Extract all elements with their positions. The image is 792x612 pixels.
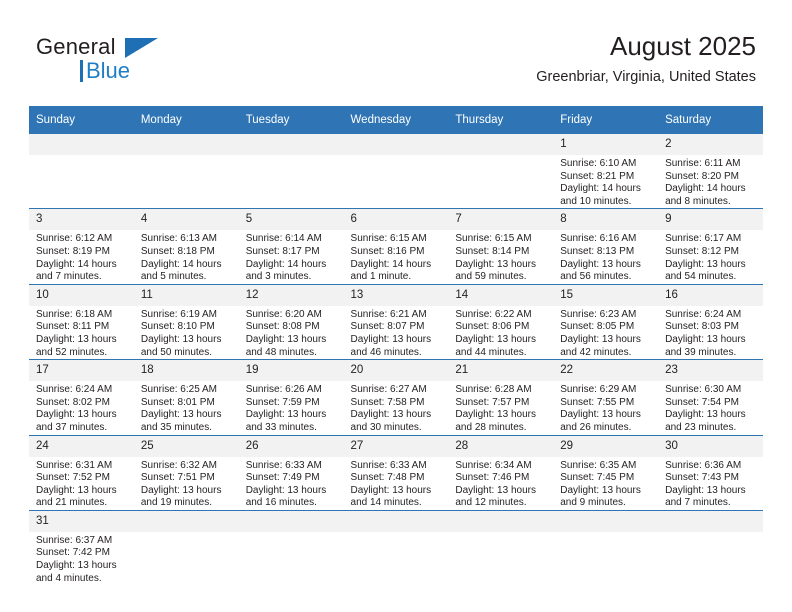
calendar-cell-day-20[interactable]: 20Sunrise: 6:27 AMSunset: 7:58 PMDayligh… [344, 360, 449, 435]
calendar-cell-day-8[interactable]: 8Sunrise: 6:16 AMSunset: 8:13 PMDaylight… [553, 209, 658, 284]
day-details: Sunrise: 6:37 AMSunset: 7:42 PMDaylight:… [29, 532, 134, 585]
daylight-duration-line2: and 33 minutes. [246, 422, 338, 435]
sunrise-time: Sunrise: 6:15 AM [351, 233, 443, 246]
sunrise-time: Sunrise: 6:28 AM [455, 384, 547, 397]
day-number: 26 [239, 436, 344, 457]
day-number: 23 [658, 360, 763, 381]
day-details: Sunrise: 6:28 AMSunset: 7:57 PMDaylight:… [448, 381, 553, 434]
sunrise-time: Sunrise: 6:14 AM [246, 233, 338, 246]
sunrise-time: Sunrise: 6:18 AM [36, 309, 128, 322]
daylight-duration-line1: Daylight: 13 hours [455, 485, 547, 498]
daylight-duration-line1: Daylight: 13 hours [560, 409, 652, 422]
sunset-time: Sunset: 8:13 PM [560, 246, 652, 259]
page-title: August 2025 [536, 30, 756, 62]
daylight-duration-line2: and 7 minutes. [36, 271, 128, 284]
day-number: 27 [344, 436, 449, 457]
daylight-duration-line2: and 1 minute. [351, 271, 443, 284]
sunrise-time: Sunrise: 6:30 AM [665, 384, 757, 397]
daylight-duration-line2: and 56 minutes. [560, 271, 652, 284]
day-number: 9 [658, 209, 763, 230]
daylight-duration-line1: Daylight: 13 hours [36, 560, 128, 573]
calendar-grid: Sunday Monday Tuesday Wednesday Thursday… [29, 106, 763, 585]
day-number: 13 [344, 285, 449, 306]
sunset-time: Sunset: 8:16 PM [351, 246, 443, 259]
day-number: 24 [29, 436, 134, 457]
day-details: Sunrise: 6:13 AMSunset: 8:18 PMDaylight:… [134, 230, 239, 283]
daylight-duration-line2: and 16 minutes. [246, 497, 338, 510]
calendar-week-row: 1Sunrise: 6:10 AMSunset: 8:21 PMDaylight… [29, 134, 763, 209]
calendar-cell-empty [344, 134, 449, 209]
day-number: 31 [29, 511, 134, 532]
day-number: 29 [553, 436, 658, 457]
day-number: 14 [448, 285, 553, 306]
day-details: Sunrise: 6:33 AMSunset: 7:49 PMDaylight:… [239, 457, 344, 510]
page-header: General Blue August 2025 Greenbriar, Vir… [0, 0, 792, 104]
day-number: 2 [658, 134, 763, 155]
daylight-duration-line2: and 30 minutes. [351, 422, 443, 435]
daylight-duration-line1: Daylight: 13 hours [36, 485, 128, 498]
daylight-duration-line2: and 9 minutes. [560, 497, 652, 510]
daylight-duration-line1: Daylight: 13 hours [351, 334, 443, 347]
daylight-duration-line2: and 5 minutes. [141, 271, 233, 284]
calendar-week-row: 24Sunrise: 6:31 AMSunset: 7:52 PMDayligh… [29, 435, 763, 510]
daylight-duration-line2: and 14 minutes. [351, 497, 443, 510]
day-number: 21 [448, 360, 553, 381]
calendar-cell-empty [448, 134, 553, 209]
day-number: 19 [239, 360, 344, 381]
day-number [239, 511, 344, 532]
sunset-time: Sunset: 8:07 PM [351, 321, 443, 334]
sunrise-time: Sunrise: 6:23 AM [560, 309, 652, 322]
calendar-cell-day-10[interactable]: 10Sunrise: 6:18 AMSunset: 8:11 PMDayligh… [29, 284, 134, 359]
day-details: Sunrise: 6:15 AMSunset: 8:14 PMDaylight:… [448, 230, 553, 283]
calendar-cell-empty [344, 510, 449, 585]
sunset-time: Sunset: 7:42 PM [36, 547, 128, 560]
calendar-cell-day-6[interactable]: 6Sunrise: 6:15 AMSunset: 8:16 PMDaylight… [344, 209, 449, 284]
brand-name-blue: Blue [86, 58, 130, 83]
sunset-time: Sunset: 8:05 PM [560, 321, 652, 334]
sunset-time: Sunset: 7:43 PM [665, 472, 757, 485]
sunset-time: Sunset: 8:12 PM [665, 246, 757, 259]
sunset-time: Sunset: 8:17 PM [246, 246, 338, 259]
brand-logo-line2: Blue [36, 58, 276, 84]
daylight-duration-line1: Daylight: 13 hours [665, 409, 757, 422]
day-details: Sunrise: 6:15 AMSunset: 8:16 PMDaylight:… [344, 230, 449, 283]
sunrise-time: Sunrise: 6:16 AM [560, 233, 652, 246]
calendar-cell-day-29[interactable]: 29Sunrise: 6:35 AMSunset: 7:45 PMDayligh… [553, 435, 658, 510]
daylight-duration-line1: Daylight: 14 hours [141, 259, 233, 272]
weekday-header-friday: Friday [553, 106, 658, 134]
daylight-duration-line1: Daylight: 13 hours [665, 334, 757, 347]
daylight-duration-line2: and 7 minutes. [665, 497, 757, 510]
day-number [448, 134, 553, 155]
sunrise-time: Sunrise: 6:33 AM [351, 460, 443, 473]
sunrise-time: Sunrise: 6:26 AM [246, 384, 338, 397]
brand-bar-icon [80, 60, 83, 82]
day-number: 10 [29, 285, 134, 306]
day-number: 18 [134, 360, 239, 381]
day-details: Sunrise: 6:22 AMSunset: 8:06 PMDaylight:… [448, 306, 553, 359]
sunrise-time: Sunrise: 6:31 AM [36, 460, 128, 473]
sunset-time: Sunset: 7:52 PM [36, 472, 128, 485]
daylight-duration-line2: and 3 minutes. [246, 271, 338, 284]
sunset-time: Sunset: 7:55 PM [560, 397, 652, 410]
brand-logo[interactable]: General Blue [36, 34, 276, 90]
daylight-duration-line2: and 19 minutes. [141, 497, 233, 510]
calendar-cell-day-16[interactable]: 16Sunrise: 6:24 AMSunset: 8:03 PMDayligh… [658, 284, 763, 359]
daylight-duration-line1: Daylight: 13 hours [560, 259, 652, 272]
sunset-time: Sunset: 8:20 PM [665, 171, 757, 184]
day-details: Sunrise: 6:26 AMSunset: 7:59 PMDaylight:… [239, 381, 344, 434]
calendar-cell-day-25[interactable]: 25Sunrise: 6:32 AMSunset: 7:51 PMDayligh… [134, 435, 239, 510]
weekday-header-monday: Monday [134, 106, 239, 134]
sunset-time: Sunset: 8:18 PM [141, 246, 233, 259]
calendar-cell-day-26[interactable]: 26Sunrise: 6:33 AMSunset: 7:49 PMDayligh… [239, 435, 344, 510]
day-details: Sunrise: 6:31 AMSunset: 7:52 PMDaylight:… [29, 457, 134, 510]
day-details: Sunrise: 6:11 AMSunset: 8:20 PMDaylight:… [658, 155, 763, 208]
calendar-week-row: 31Sunrise: 6:37 AMSunset: 7:42 PMDayligh… [29, 510, 763, 585]
calendar-body: 1Sunrise: 6:10 AMSunset: 8:21 PMDaylight… [29, 134, 763, 585]
daylight-duration-line1: Daylight: 13 hours [141, 409, 233, 422]
daylight-duration-line1: Daylight: 13 hours [665, 485, 757, 498]
sunset-time: Sunset: 8:21 PM [560, 171, 652, 184]
calendar-week-row: 3Sunrise: 6:12 AMSunset: 8:19 PMDaylight… [29, 209, 763, 284]
weekday-header-sunday: Sunday [29, 106, 134, 134]
calendar-cell-day-9[interactable]: 9Sunrise: 6:17 AMSunset: 8:12 PMDaylight… [658, 209, 763, 284]
sunset-time: Sunset: 7:46 PM [455, 472, 547, 485]
day-details: Sunrise: 6:10 AMSunset: 8:21 PMDaylight:… [553, 155, 658, 208]
daylight-duration-line2: and 8 minutes. [665, 196, 757, 209]
daylight-duration-line2: and 46 minutes. [351, 347, 443, 360]
sunset-time: Sunset: 7:51 PM [141, 472, 233, 485]
sunset-time: Sunset: 8:06 PM [455, 321, 547, 334]
sunset-time: Sunset: 7:48 PM [351, 472, 443, 485]
daylight-duration-line2: and 21 minutes. [36, 497, 128, 510]
daylight-duration-line1: Daylight: 13 hours [246, 334, 338, 347]
calendar-week-row: 17Sunrise: 6:24 AMSunset: 8:02 PMDayligh… [29, 360, 763, 435]
day-details: Sunrise: 6:23 AMSunset: 8:05 PMDaylight:… [553, 306, 658, 359]
calendar-cell-day-3[interactable]: 3Sunrise: 6:12 AMSunset: 8:19 PMDaylight… [29, 209, 134, 284]
daylight-duration-line1: Daylight: 13 hours [36, 409, 128, 422]
daylight-duration-line2: and 37 minutes. [36, 422, 128, 435]
day-number [239, 134, 344, 155]
title-block: August 2025 Greenbriar, Virginia, United… [536, 30, 756, 86]
calendar-cell-day-4[interactable]: 4Sunrise: 6:13 AMSunset: 8:18 PMDaylight… [134, 209, 239, 284]
day-details: Sunrise: 6:21 AMSunset: 8:07 PMDaylight:… [344, 306, 449, 359]
sunset-time: Sunset: 7:58 PM [351, 397, 443, 410]
calendar-cell-day-24[interactable]: 24Sunrise: 6:31 AMSunset: 7:52 PMDayligh… [29, 435, 134, 510]
calendar-cell-day-23[interactable]: 23Sunrise: 6:30 AMSunset: 7:54 PMDayligh… [658, 360, 763, 435]
sunrise-time: Sunrise: 6:24 AM [36, 384, 128, 397]
calendar-cell-day-17[interactable]: 17Sunrise: 6:24 AMSunset: 8:02 PMDayligh… [29, 360, 134, 435]
daylight-duration-line1: Daylight: 14 hours [351, 259, 443, 272]
daylight-duration-line2: and 10 minutes. [560, 196, 652, 209]
daylight-duration-line1: Daylight: 13 hours [141, 485, 233, 498]
day-details: Sunrise: 6:20 AMSunset: 8:08 PMDaylight:… [239, 306, 344, 359]
daylight-duration-line1: Daylight: 14 hours [246, 259, 338, 272]
sunset-time: Sunset: 8:10 PM [141, 321, 233, 334]
day-number: 20 [344, 360, 449, 381]
daylight-duration-line2: and 54 minutes. [665, 271, 757, 284]
daylight-duration-line1: Daylight: 14 hours [560, 183, 652, 196]
day-number [134, 511, 239, 532]
sunset-time: Sunset: 8:08 PM [246, 321, 338, 334]
calendar-cell-day-15[interactable]: 15Sunrise: 6:23 AMSunset: 8:05 PMDayligh… [553, 284, 658, 359]
daylight-duration-line2: and 48 minutes. [246, 347, 338, 360]
calendar-cell-day-7[interactable]: 7Sunrise: 6:15 AMSunset: 8:14 PMDaylight… [448, 209, 553, 284]
day-details: Sunrise: 6:32 AMSunset: 7:51 PMDaylight:… [134, 457, 239, 510]
calendar-cell-day-31[interactable]: 31Sunrise: 6:37 AMSunset: 7:42 PMDayligh… [29, 510, 134, 585]
day-number [29, 134, 134, 155]
daylight-duration-line1: Daylight: 13 hours [665, 259, 757, 272]
calendar-cell-day-19[interactable]: 19Sunrise: 6:26 AMSunset: 7:59 PMDayligh… [239, 360, 344, 435]
calendar-header-row: Sunday Monday Tuesday Wednesday Thursday… [29, 106, 763, 134]
sunset-time: Sunset: 7:49 PM [246, 472, 338, 485]
day-number: 4 [134, 209, 239, 230]
daylight-duration-line1: Daylight: 13 hours [560, 334, 652, 347]
sunrise-time: Sunrise: 6:36 AM [665, 460, 757, 473]
day-details: Sunrise: 6:36 AMSunset: 7:43 PMDaylight:… [658, 457, 763, 510]
daylight-duration-line2: and 35 minutes. [141, 422, 233, 435]
daylight-duration-line1: Daylight: 13 hours [351, 409, 443, 422]
sunrise-time: Sunrise: 6:32 AM [141, 460, 233, 473]
day-number: 15 [553, 285, 658, 306]
day-details: Sunrise: 6:30 AMSunset: 7:54 PMDaylight:… [658, 381, 763, 434]
daylight-duration-line1: Daylight: 13 hours [560, 485, 652, 498]
sunrise-time: Sunrise: 6:15 AM [455, 233, 547, 246]
calendar-cell-empty [134, 510, 239, 585]
daylight-duration-line1: Daylight: 13 hours [36, 334, 128, 347]
calendar-cell-empty [134, 134, 239, 209]
day-number [134, 134, 239, 155]
calendar-cell-empty [658, 510, 763, 585]
sunrise-time: Sunrise: 6:11 AM [665, 158, 757, 171]
day-number [658, 511, 763, 532]
sunset-time: Sunset: 7:57 PM [455, 397, 547, 410]
sunset-time: Sunset: 8:02 PM [36, 397, 128, 410]
brand-name-general: General [36, 34, 116, 59]
day-details: Sunrise: 6:18 AMSunset: 8:11 PMDaylight:… [29, 306, 134, 359]
weekday-header-saturday: Saturday [658, 106, 763, 134]
calendar-cell-day-18[interactable]: 18Sunrise: 6:25 AMSunset: 8:01 PMDayligh… [134, 360, 239, 435]
daylight-duration-line1: Daylight: 13 hours [455, 334, 547, 347]
calendar-cell-empty [448, 510, 553, 585]
day-number: 7 [448, 209, 553, 230]
day-number: 6 [344, 209, 449, 230]
day-number: 12 [239, 285, 344, 306]
sunrise-time: Sunrise: 6:29 AM [560, 384, 652, 397]
sunset-time: Sunset: 8:14 PM [455, 246, 547, 259]
calendar-cell-empty [29, 134, 134, 209]
day-number: 5 [239, 209, 344, 230]
daylight-duration-line2: and 42 minutes. [560, 347, 652, 360]
sunrise-time: Sunrise: 6:20 AM [246, 309, 338, 322]
sunrise-time: Sunrise: 6:21 AM [351, 309, 443, 322]
sunrise-time: Sunrise: 6:10 AM [560, 158, 652, 171]
calendar-cell-day-28[interactable]: 28Sunrise: 6:34 AMSunset: 7:46 PMDayligh… [448, 435, 553, 510]
sunset-time: Sunset: 7:54 PM [665, 397, 757, 410]
calendar-cell-day-13[interactable]: 13Sunrise: 6:21 AMSunset: 8:07 PMDayligh… [344, 284, 449, 359]
weekday-header-wednesday: Wednesday [344, 106, 449, 134]
day-details: Sunrise: 6:34 AMSunset: 7:46 PMDaylight:… [448, 457, 553, 510]
weekday-header-tuesday: Tuesday [239, 106, 344, 134]
daylight-duration-line1: Daylight: 13 hours [246, 409, 338, 422]
sunrise-time: Sunrise: 6:33 AM [246, 460, 338, 473]
calendar-cell-day-27[interactable]: 27Sunrise: 6:33 AMSunset: 7:48 PMDayligh… [344, 435, 449, 510]
sunrise-time: Sunrise: 6:19 AM [141, 309, 233, 322]
calendar-cell-empty [239, 134, 344, 209]
calendar-cell-day-1[interactable]: 1Sunrise: 6:10 AMSunset: 8:21 PMDaylight… [553, 134, 658, 209]
day-number: 28 [448, 436, 553, 457]
triangle-flag-icon [125, 38, 158, 58]
daylight-duration-line2: and 50 minutes. [141, 347, 233, 360]
page-subtitle: Greenbriar, Virginia, United States [536, 68, 756, 86]
day-details: Sunrise: 6:16 AMSunset: 8:13 PMDaylight:… [553, 230, 658, 283]
calendar-cell-day-14[interactable]: 14Sunrise: 6:22 AMSunset: 8:06 PMDayligh… [448, 284, 553, 359]
daylight-duration-line2: and 23 minutes. [665, 422, 757, 435]
brand-logo-line1: General [36, 34, 276, 60]
sunrise-time: Sunrise: 6:24 AM [665, 309, 757, 322]
calendar-week-row: 10Sunrise: 6:18 AMSunset: 8:11 PMDayligh… [29, 284, 763, 359]
day-number: 16 [658, 285, 763, 306]
day-details: Sunrise: 6:25 AMSunset: 8:01 PMDaylight:… [134, 381, 239, 434]
sunset-time: Sunset: 7:59 PM [246, 397, 338, 410]
sunrise-time: Sunrise: 6:35 AM [560, 460, 652, 473]
sunset-time: Sunset: 8:01 PM [141, 397, 233, 410]
day-details: Sunrise: 6:33 AMSunset: 7:48 PMDaylight:… [344, 457, 449, 510]
daylight-duration-line1: Daylight: 14 hours [665, 183, 757, 196]
day-number: 8 [553, 209, 658, 230]
calendar-cell-day-11[interactable]: 11Sunrise: 6:19 AMSunset: 8:10 PMDayligh… [134, 284, 239, 359]
day-number: 11 [134, 285, 239, 306]
sunset-time: Sunset: 8:19 PM [36, 246, 128, 259]
calendar-cell-empty [553, 510, 658, 585]
sunrise-time: Sunrise: 6:27 AM [351, 384, 443, 397]
daylight-duration-line2: and 12 minutes. [455, 497, 547, 510]
day-number: 22 [553, 360, 658, 381]
daylight-duration-line1: Daylight: 13 hours [246, 485, 338, 498]
day-number [448, 511, 553, 532]
daylight-duration-line2: and 4 minutes. [36, 573, 128, 586]
daylight-duration-line2: and 39 minutes. [665, 347, 757, 360]
day-number: 17 [29, 360, 134, 381]
day-details: Sunrise: 6:29 AMSunset: 7:55 PMDaylight:… [553, 381, 658, 434]
day-number [553, 511, 658, 532]
daylight-duration-line1: Daylight: 14 hours [36, 259, 128, 272]
sunrise-time: Sunrise: 6:37 AM [36, 535, 128, 548]
daylight-duration-line2: and 52 minutes. [36, 347, 128, 360]
sunrise-time: Sunrise: 6:13 AM [141, 233, 233, 246]
daylight-duration-line2: and 26 minutes. [560, 422, 652, 435]
day-number: 25 [134, 436, 239, 457]
day-details: Sunrise: 6:14 AMSunset: 8:17 PMDaylight:… [239, 230, 344, 283]
calendar-cell-day-2[interactable]: 2Sunrise: 6:11 AMSunset: 8:20 PMDaylight… [658, 134, 763, 209]
sunset-time: Sunset: 8:11 PM [36, 321, 128, 334]
calendar-page: General Blue August 2025 Greenbriar, Vir… [0, 0, 792, 612]
weekday-header-thursday: Thursday [448, 106, 553, 134]
daylight-duration-line1: Daylight: 13 hours [351, 485, 443, 498]
day-details: Sunrise: 6:27 AMSunset: 7:58 PMDaylight:… [344, 381, 449, 434]
calendar-cell-day-22[interactable]: 22Sunrise: 6:29 AMSunset: 7:55 PMDayligh… [553, 360, 658, 435]
calendar-cell-empty [239, 510, 344, 585]
day-details: Sunrise: 6:24 AMSunset: 8:03 PMDaylight:… [658, 306, 763, 359]
calendar-cell-day-30[interactable]: 30Sunrise: 6:36 AMSunset: 7:43 PMDayligh… [658, 435, 763, 510]
day-number: 30 [658, 436, 763, 457]
calendar-cell-day-21[interactable]: 21Sunrise: 6:28 AMSunset: 7:57 PMDayligh… [448, 360, 553, 435]
sunset-time: Sunset: 8:03 PM [665, 321, 757, 334]
calendar-cell-day-5[interactable]: 5Sunrise: 6:14 AMSunset: 8:17 PMDaylight… [239, 209, 344, 284]
day-number: 1 [553, 134, 658, 155]
sunrise-time: Sunrise: 6:34 AM [455, 460, 547, 473]
sunset-time: Sunset: 7:45 PM [560, 472, 652, 485]
day-number [344, 511, 449, 532]
day-details: Sunrise: 6:17 AMSunset: 8:12 PMDaylight:… [658, 230, 763, 283]
day-details: Sunrise: 6:24 AMSunset: 8:02 PMDaylight:… [29, 381, 134, 434]
daylight-duration-line2: and 44 minutes. [455, 347, 547, 360]
calendar-cell-day-12[interactable]: 12Sunrise: 6:20 AMSunset: 8:08 PMDayligh… [239, 284, 344, 359]
day-number: 3 [29, 209, 134, 230]
day-details: Sunrise: 6:12 AMSunset: 8:19 PMDaylight:… [29, 230, 134, 283]
daylight-duration-line2: and 28 minutes. [455, 422, 547, 435]
sunrise-time: Sunrise: 6:17 AM [665, 233, 757, 246]
sunrise-time: Sunrise: 6:22 AM [455, 309, 547, 322]
sunrise-time: Sunrise: 6:12 AM [36, 233, 128, 246]
daylight-duration-line1: Daylight: 13 hours [141, 334, 233, 347]
sunrise-time: Sunrise: 6:25 AM [141, 384, 233, 397]
day-number [344, 134, 449, 155]
daylight-duration-line2: and 59 minutes. [455, 271, 547, 284]
day-details: Sunrise: 6:35 AMSunset: 7:45 PMDaylight:… [553, 457, 658, 510]
daylight-duration-line1: Daylight: 13 hours [455, 259, 547, 272]
day-details: Sunrise: 6:19 AMSunset: 8:10 PMDaylight:… [134, 306, 239, 359]
daylight-duration-line1: Daylight: 13 hours [455, 409, 547, 422]
